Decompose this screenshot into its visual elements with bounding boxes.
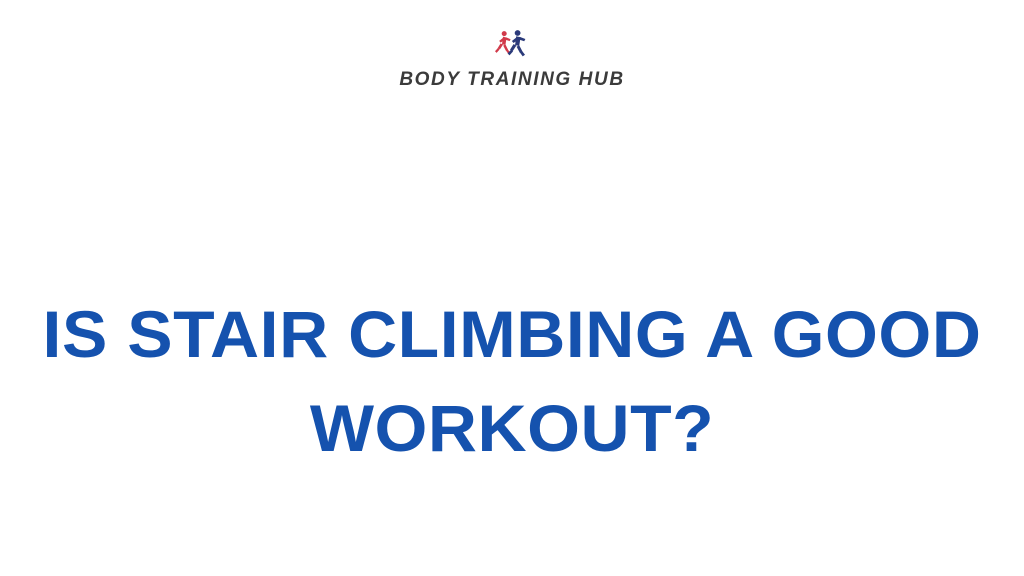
page-title-line-2: WORKOUT? [0, 381, 1024, 475]
page-title: IS STAIR CLIMBING A GOOD WORKOUT? [0, 287, 1024, 475]
page-title-line-1: IS STAIR CLIMBING A GOOD [0, 287, 1024, 381]
brand-name: BODY TRAINING HUB [399, 70, 624, 89]
page-canvas: BODY TRAINING HUB IS STAIR CLIMBING A GO… [0, 0, 1024, 576]
two-runners-icon [492, 28, 532, 62]
brand-header: BODY TRAINING HUB [0, 28, 1024, 89]
